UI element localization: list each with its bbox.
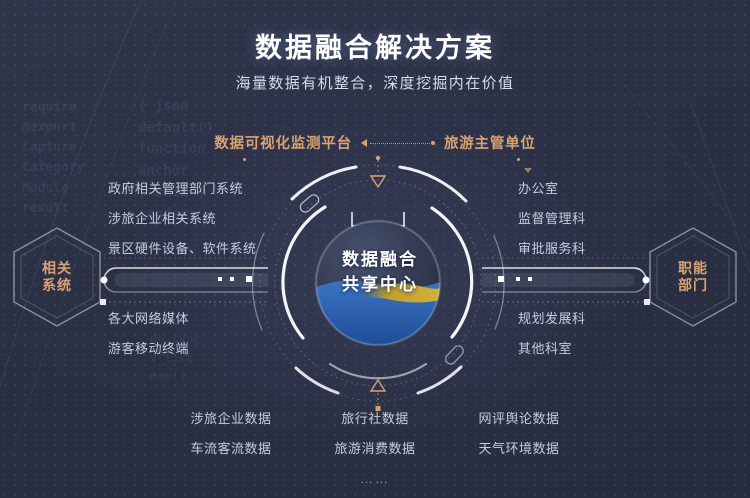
data-cell: 旅游消费数据 [320, 438, 430, 457]
left-bottom-source-list: 各大网络媒体 游客移动终端 [108, 308, 189, 368]
badge-functional-departments[interactable]: 职能 部门 [650, 228, 736, 326]
tick-dot-left [243, 158, 246, 161]
tick-dot-right [517, 158, 520, 161]
list-item: 各大网络媒体 [108, 308, 189, 327]
data-row-2: 车流客流数据 旅游消费数据 天气环境数据 [176, 438, 574, 457]
page-subtitle: 海量数据有机整合，深度挖掘内在价值 [0, 72, 750, 93]
list-item: 办公室 [518, 178, 586, 197]
list-item: 涉旅企业相关系统 [108, 208, 257, 227]
caret-up-icon [524, 168, 532, 173]
platform-label: 数据可视化监测平台 [214, 132, 352, 153]
list-item: 游客移动终端 [108, 338, 189, 357]
hub-line-1: 数据融合 [305, 248, 455, 273]
ring-marker-top [298, 193, 320, 214]
list-item: 审批服务科 [518, 238, 586, 257]
list-item: 监督管理科 [518, 208, 586, 227]
infographic-canvas: require @export Capture Category Module … [0, 0, 750, 498]
badge-related-systems[interactable]: 相关 系统 [14, 228, 100, 326]
list-item: 其他科室 [518, 338, 586, 357]
hub-line-2: 共享中心 [305, 273, 455, 298]
data-ellipsis: …… [360, 471, 390, 486]
authority-label: 旅游主管单位 [444, 132, 536, 153]
left-top-source-list: 政府相关管理部门系统 涉旅企业相关系统 景区硬件设备、软件系统 [108, 178, 257, 268]
data-cell: 网评舆论数据 [464, 408, 574, 427]
dotted-arrow-left-icon [361, 138, 435, 148]
badge-right-line1: 职能 [678, 260, 708, 278]
badge-left-line1: 相关 [42, 260, 72, 278]
center-hub-label: 数据融合 共享中心 [305, 248, 455, 297]
badge-right-line2: 部门 [678, 277, 708, 295]
data-cell: 天气环境数据 [464, 438, 574, 457]
list-item: 景区硬件设备、软件系统 [108, 238, 257, 257]
decorative-code-a: require @export Capture Category Module … [22, 98, 85, 219]
top-inflow-arrow [371, 156, 385, 187]
list-item: 政府相关管理部门系统 [108, 178, 257, 197]
data-row-1: 涉旅企业数据 旅行社数据 网评舆论数据 [176, 408, 574, 427]
data-cell: 涉旅企业数据 [176, 408, 286, 427]
inner-bracket-ticks [352, 212, 404, 226]
right-top-department-list: 办公室 监督管理科 审批服务科 [518, 178, 586, 268]
right-bottom-department-list: 规划发展科 其他科室 [518, 308, 586, 368]
top-connector-row: 数据可视化监测平台 旅游主管单位 [0, 132, 750, 153]
data-cell: 车流客流数据 [176, 438, 286, 457]
bottom-data-grid: 涉旅企业数据 旅行社数据 网评舆论数据 车流客流数据 旅游消费数据 天气环境数据… [0, 408, 750, 486]
bottom-outflow-arrow [371, 380, 385, 411]
ring-marker-bottom [444, 344, 466, 366]
list-item: 规划发展科 [518, 308, 586, 327]
data-cell: 旅行社数据 [320, 408, 430, 427]
badge-left-line2: 系统 [42, 277, 72, 295]
page-title: 数据融合解决方案 [0, 26, 750, 65]
